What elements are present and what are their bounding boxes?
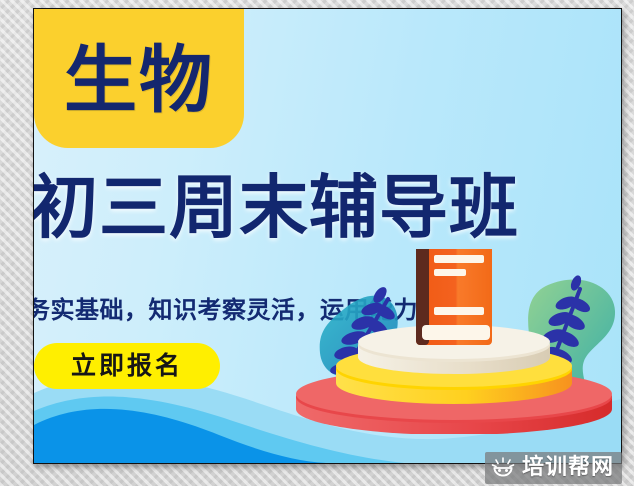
textbook-icon	[416, 249, 492, 345]
enroll-now-label: 立即报名	[71, 354, 183, 379]
subject-badge-label: 生物	[64, 44, 214, 117]
page-title: 初三周末辅导班	[33, 174, 622, 243]
course-promo-banner: 生物 初三周末辅导班 务实基础，知识考察灵活，运用能力提升 立即报名	[33, 8, 622, 464]
watermark-text: 培训帮网	[522, 457, 614, 479]
watermark: 培训帮网	[485, 452, 622, 484]
subject-badge: 生物	[34, 9, 244, 148]
book-podium-illustration	[284, 249, 622, 434]
sun-face-icon	[491, 457, 515, 479]
enroll-now-button[interactable]: 立即报名	[34, 343, 220, 389]
